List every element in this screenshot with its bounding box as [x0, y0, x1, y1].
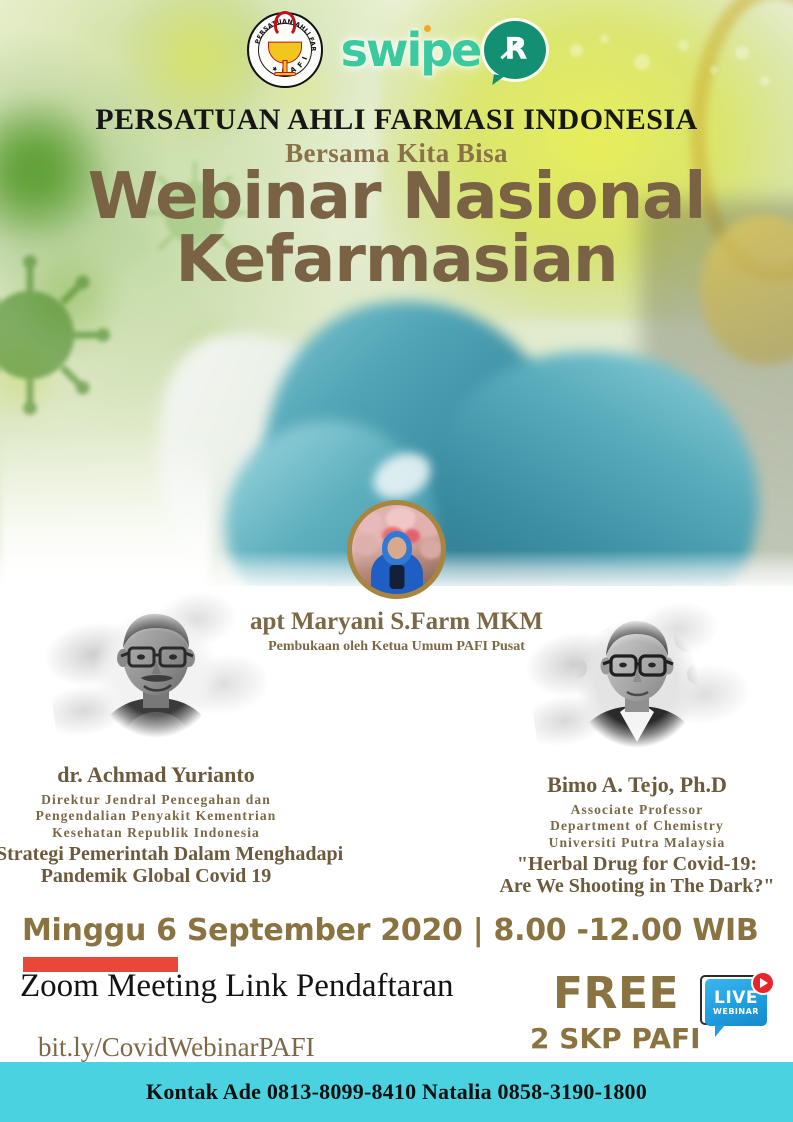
speaker-role-right-line1: Associate Professor — [477, 802, 793, 818]
speaker-topic-left-line1: Strategi Pemerintah Dalam Menghadapi — [0, 843, 316, 865]
live-badge-secondary-text: WEBINAR — [713, 1008, 759, 1016]
speaker-portrait-right — [530, 598, 745, 768]
avatar-face — [387, 537, 406, 559]
speaker-photo-achmad-yurianto — [81, 598, 231, 748]
speaker-portrait-left — [49, 588, 264, 758]
speaker-role-right: Associate Professor Department of Chemis… — [477, 802, 793, 851]
speaker-topic-right-line2: Are We Shooting in The Dark?" — [477, 875, 793, 897]
speaker-role-right-line2: Department of Chemistry — [477, 818, 793, 834]
avatar-collar — [389, 565, 404, 589]
credits-label: 2 SKP PAFI — [530, 1022, 701, 1055]
contact-footer: Kontak Ade 0813-8099-8410 Natalia 0858-3… — [0, 1062, 793, 1122]
live-badge-primary-text: LIVE — [714, 990, 758, 1007]
speaker-topic-left-line2: Pandemik Global Covid 19 — [0, 865, 316, 887]
page-title: Webinar Nasional Kefarmasian — [0, 166, 793, 291]
asclepius-snake-icon — [274, 11, 296, 37]
avatar — [347, 500, 446, 599]
organization-name: PERSATUAN AHLI FARMASI INDONESIA — [0, 103, 793, 137]
speaker-name-right: Bimo A. Tejo, Ph.D — [477, 772, 793, 798]
live-webinar-badge: LIVE WEBINAR — [697, 971, 775, 1037]
speaker-block-right: Bimo A. Tejo, Ph.D Associate Professor D… — [477, 598, 793, 897]
webinar-poster: PERSATUAN AHLI FARMASI INDONESIA ★ P A F… — [0, 0, 793, 1122]
platform-registration-label: Zoom Meeting Link Pendaftaran — [20, 968, 453, 1005]
registration-link[interactable]: bit.ly/CovidWebinarPAFI — [38, 1032, 315, 1063]
swiperx-logo: swipe R — [341, 21, 547, 79]
speaker-role-left-line2: Pengendalian Penyakit Kementrian — [0, 808, 316, 824]
rx-bubble-icon: R — [484, 21, 546, 79]
speaker-block-left: dr. Achmad Yurianto Direktur Jendral Pen… — [0, 588, 316, 887]
speaker-role-left-line1: Direktur Jendral Pencegahan dan — [0, 792, 316, 808]
speaker-role-right-line3: Universiti Putra Malaysia — [477, 835, 793, 851]
event-datetime: Minggu 6 September 2020 | 8.00 -12.00 WI… — [22, 913, 758, 948]
speaker-topic-right: "Herbal Drug for Covid-19: Are We Shooti… — [477, 853, 793, 897]
speaker-topic-left: Strategi Pemerintah Dalam Menghadapi Pan… — [0, 843, 316, 887]
contact-text: Kontak Ade 0813-8099-8410 Natalia 0858-3… — [146, 1079, 647, 1105]
swipe-wordmark-text: swipe — [341, 23, 481, 77]
play-button-icon — [751, 971, 775, 995]
speaker-photo-bimo-tejo — [562, 608, 712, 758]
price-label: FREE — [553, 968, 679, 1019]
speaker-topic-right-line1: "Herbal Drug for Covid-19: — [477, 853, 793, 875]
logo-row: PERSATUAN AHLI FARMASI INDONESIA ★ P A F… — [0, 10, 793, 90]
title-line-2: Kefarmasian — [0, 229, 793, 292]
swipe-wordmark: swipe — [341, 27, 481, 73]
pafi-seal-icon: PERSATUAN AHLI FARMASI INDONESIA ★ P A F… — [247, 12, 323, 88]
speaker-role-left-line3: Kesehatan Republik Indonesia — [0, 825, 316, 841]
speaker-name-left: dr. Achmad Yurianto — [0, 762, 316, 788]
speaker-role-left: Direktur Jendral Pencegahan dan Pengenda… — [0, 792, 316, 841]
swipe-dot-icon — [424, 25, 431, 32]
